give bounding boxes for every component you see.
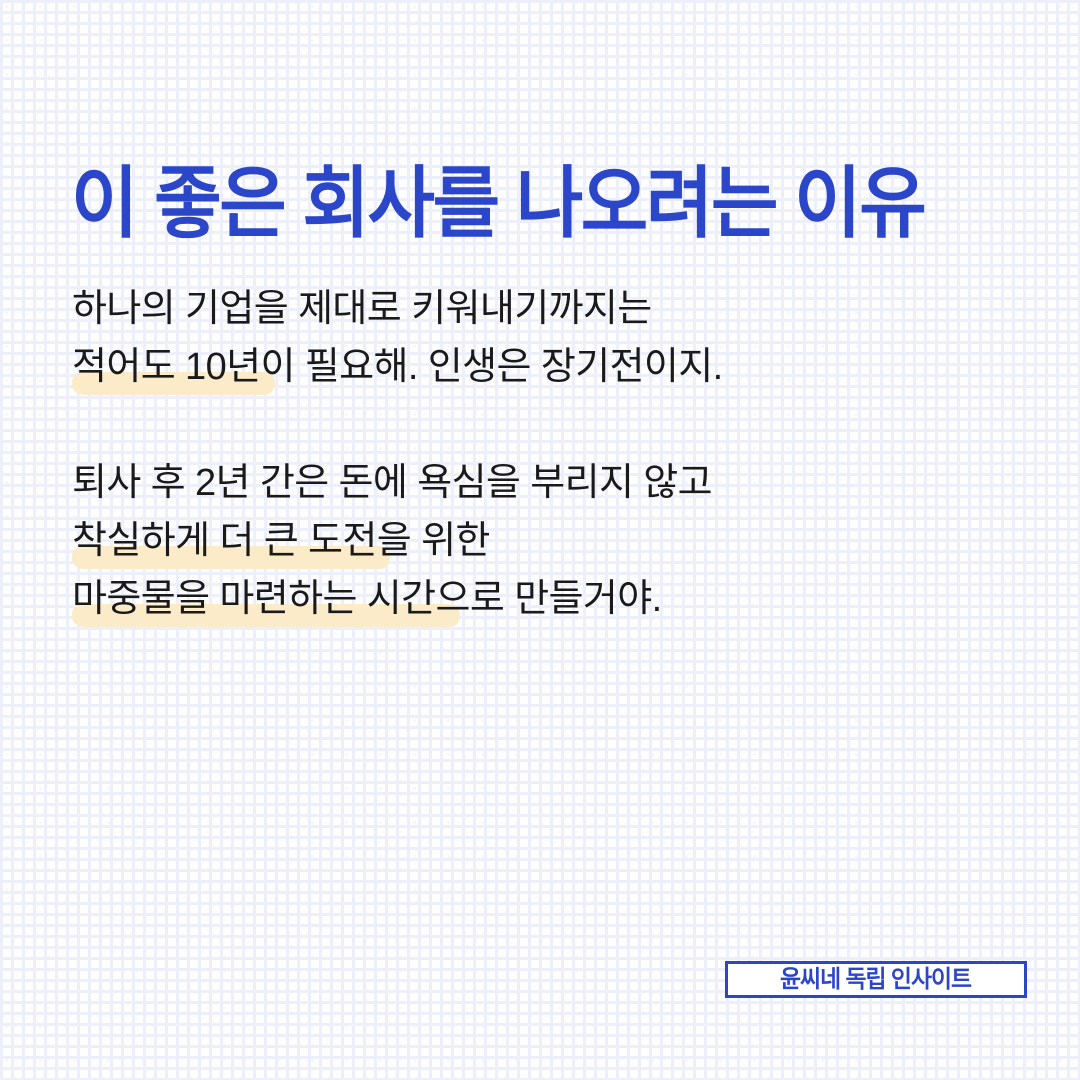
card-content: 이 좋은 회사를 나오려는 이유 하나의 기업을 제대로 키워내기까지는 적어도… [0,0,1080,1080]
body-line: 퇴사 후 2년 간은 돈에 욕심을 부리지 않고 [72,454,972,512]
body-line-text: 퇴사 후 2년 간은 돈에 욕심을 부리지 않고 [72,462,712,504]
page-title: 이 좋은 회사를 나오려는 이유 [71,164,924,242]
paragraph-spacer [72,396,972,454]
body-copy: 하나의 기업을 제대로 키워내기까지는 적어도 10년이 필요해. 인생은 장기… [72,280,972,628]
body-line: 적어도 10년이 필요해. 인생은 장기전이지. [72,338,972,396]
body-line-text: 마중물을 마련하는 시간으로 만들거야. [72,578,662,620]
brand-badge-label: 윤씨네 독립 인사이트 [780,968,971,992]
body-line: 착실하게 더 큰 도전을 위한 [72,512,972,570]
brand-badge: 윤씨네 독립 인사이트 [725,961,1027,998]
body-line: 하나의 기업을 제대로 키워내기까지는 [72,280,972,338]
paragraph-1: 하나의 기업을 제대로 키워내기까지는 적어도 10년이 필요해. 인생은 장기… [72,280,972,396]
paragraph-2: 퇴사 후 2년 간은 돈에 욕심을 부리지 않고 착실하게 더 큰 도전을 위한… [72,454,972,628]
body-line-text: 착실하게 더 큰 도전을 위한 [72,520,490,562]
body-line-text: 하나의 기업을 제대로 키워내기까지는 [72,288,652,330]
body-line-text: 적어도 10년이 필요해. 인생은 장기전이지. [72,346,723,388]
social-card: 이 좋은 회사를 나오려는 이유 하나의 기업을 제대로 키워내기까지는 적어도… [0,0,1080,1080]
body-line: 마중물을 마련하는 시간으로 만들거야. [72,570,972,628]
